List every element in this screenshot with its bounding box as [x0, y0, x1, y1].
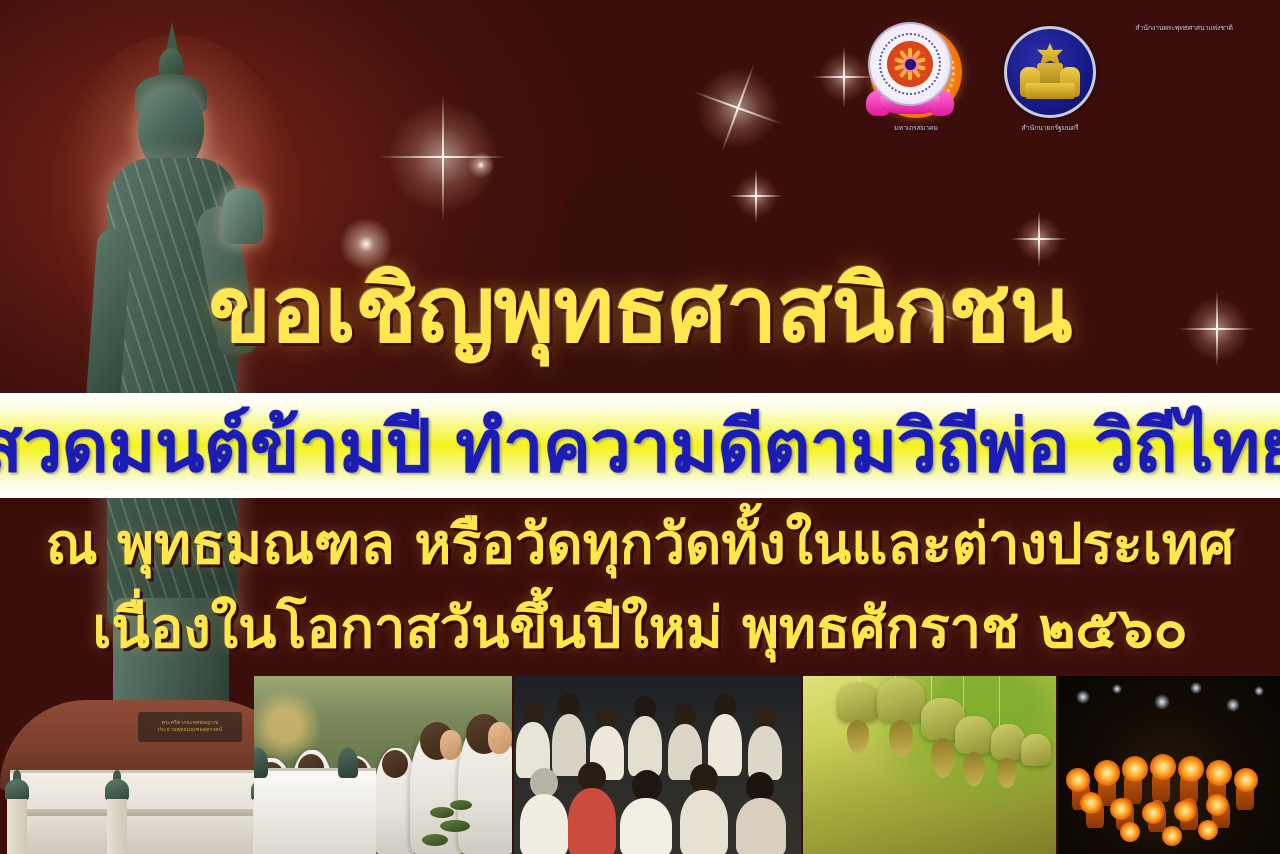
bonsai-tree	[416, 796, 482, 854]
royal-seal-icon	[1000, 22, 1100, 122]
occasion-line: เนื่องในโอกาสวันขึ้นปีใหม่ พุทธศักราช ๒๕…	[0, 596, 1280, 662]
plaque-line-2: ประธานพุทธมณฑลสุทรรศน์	[158, 727, 223, 734]
statue-abhaya-hand	[223, 188, 263, 244]
photo-candlelight-night	[1058, 676, 1280, 854]
plaque-line-1: พระศรีศากยะทศพลญาณ	[161, 720, 218, 727]
photo-strip	[254, 676, 1280, 854]
photo-crowd-worshippers	[514, 676, 801, 854]
shrine-wall	[254, 768, 376, 854]
banner-slogan: สวดมนต์ข้ามปี ทำความดีตามวิถีพ่อ วิถีไทย	[0, 405, 1280, 487]
venue-line: ณ พุทธมณฑล หรือวัดทุกวัดทั้งในและต่างประ…	[0, 512, 1280, 578]
sparkle-star-icon	[728, 168, 784, 224]
logo-prime-minister-office: สำนักนายกรัฐมนตรี	[994, 22, 1106, 133]
sparkle-star-icon	[378, 92, 508, 222]
chedi-spire	[614, 38, 636, 188]
logo-caption: มหาเถรสมาคม	[894, 124, 937, 133]
poster-headline: ขอเชิญพุทธศาสนิกชน	[0, 258, 1280, 362]
highlight-banner: สวดมนต์ข้ามปี ทำความดีตามวิถีพ่อ วิถีไทย	[0, 393, 1280, 498]
poster-canvas: พระศรีศากยะทศพลญาณ ประธานพุทธมณฑลสุทรรศน…	[0, 0, 1280, 854]
organization-logos: มหาเถรสมาคม สำนักนายกรัฐมนตรี	[860, 22, 1260, 157]
photo-devotees-praying	[254, 676, 512, 854]
logo-caption: สำนักงานพระพุทธศาสนาแห่งชาติ	[1135, 24, 1233, 33]
light-bokeh-dot	[468, 152, 494, 178]
logo-caption: สำนักนายกรัฐมนตรี	[1021, 124, 1078, 133]
wheel-on-lotus-icon	[860, 22, 960, 122]
sparkle-star-icon	[676, 46, 799, 169]
balustrade-finial	[102, 779, 132, 825]
photo-temple-bells	[803, 676, 1057, 854]
balustrade-finial	[2, 779, 32, 825]
statue-plaque: พระศรีศากยะทศพลญาณ ประธานพุทธมณฑลสุทรรศน…	[138, 712, 242, 742]
logo-national-buddhism-office: สำนักงานพระพุทธศาสนาแห่งชาติ	[1128, 22, 1240, 33]
